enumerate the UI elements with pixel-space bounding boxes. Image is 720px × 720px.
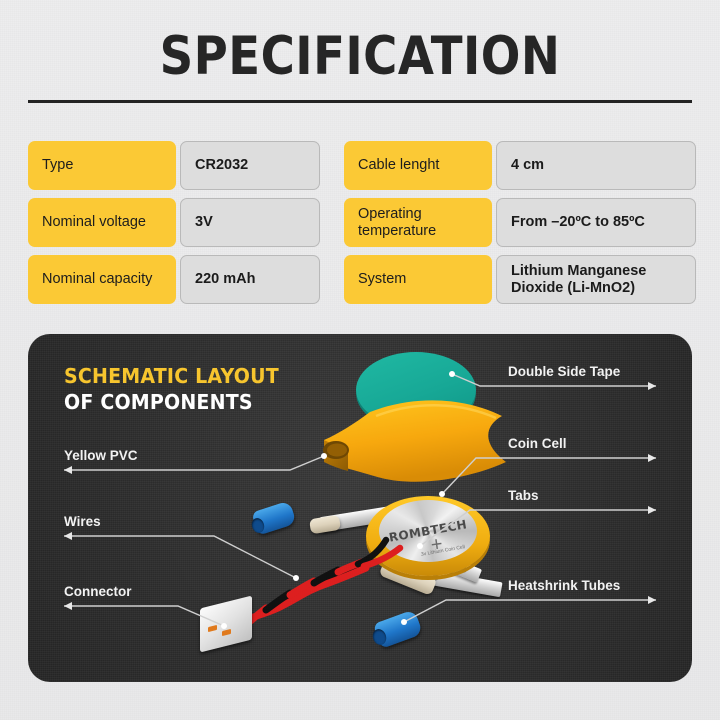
spec-key-type: Type <box>28 141 176 190</box>
table-gutter <box>316 198 344 247</box>
spec-value-nominal-capacity: 220 mAh <box>180 255 320 304</box>
connector-housing <box>200 596 252 653</box>
table-gutter <box>316 255 344 304</box>
spec-value-system: Lithium Manganese Dioxide (Li-MnO2) <box>496 255 696 304</box>
spec-value-nominal-voltage: 3V <box>180 198 320 247</box>
table-gutter <box>316 141 344 190</box>
spec-value-cable-length: 4 cm <box>496 141 696 190</box>
label-heatshrink-tubes: Heatshrink Tubes <box>508 578 620 594</box>
spec-value-type: CR2032 <box>180 141 320 190</box>
spec-value-operating-temperature: From –20ºC to 85ºC <box>496 198 696 247</box>
label-connector: Connector <box>64 584 132 600</box>
title-divider <box>28 100 692 103</box>
page-title: SPECIFICATION <box>43 28 677 86</box>
spec-key-operating-temperature: Operating temperature <box>344 198 492 247</box>
schematic-panel: SCHEMATIC LAYOUT OF COMPONENTS <box>28 334 692 682</box>
spec-key-system: System <box>344 255 492 304</box>
label-tabs: Tabs <box>508 488 539 504</box>
label-coin-cell: Coin Cell <box>508 436 567 452</box>
exploded-view-artwork: ROMBTECH + 3v Lithium Coin Cell <box>28 334 692 682</box>
spec-key-nominal-capacity: Nominal capacity <box>28 255 176 304</box>
label-yellow-pvc: Yellow PVC <box>64 448 138 464</box>
specification-table: Type CR2032 Cable lenght 4 cm Nominal vo… <box>28 141 692 304</box>
label-wires: Wires <box>64 514 101 530</box>
spec-key-nominal-voltage: Nominal voltage <box>28 198 176 247</box>
wires-part <box>28 334 692 682</box>
connector-part <box>200 602 252 646</box>
label-double-side-tape: Double Side Tape <box>508 364 620 380</box>
spec-key-cable-length: Cable lenght <box>344 141 492 190</box>
